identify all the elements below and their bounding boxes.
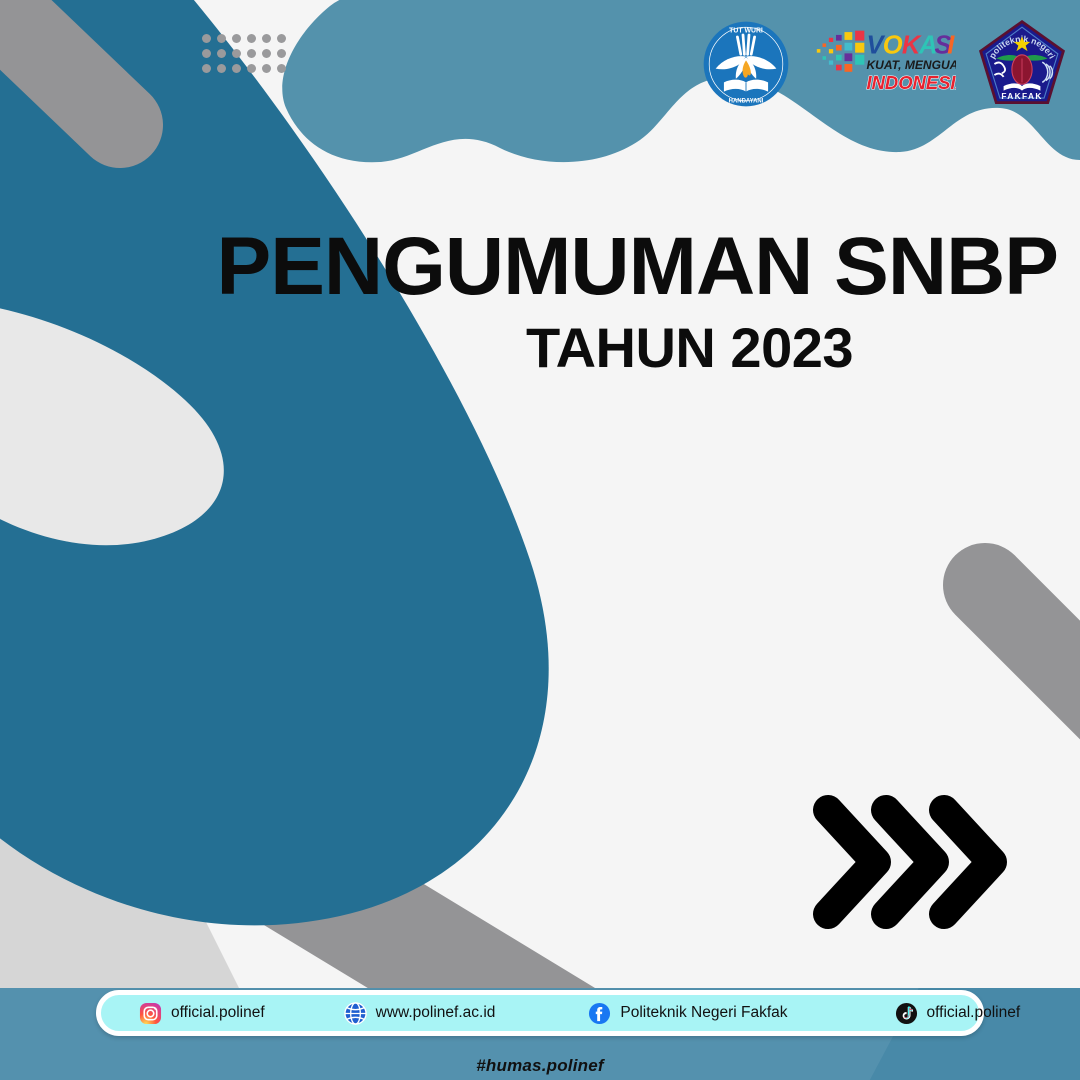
dot [247,49,256,58]
hashtag-text: #humas.polinef [0,1056,1080,1076]
svg-text:TUT WURI: TUT WURI [729,28,763,35]
chevron-right-icon [886,810,934,914]
dot [277,64,286,73]
dot [262,64,271,73]
dot [217,64,226,73]
dot [262,34,271,43]
vokasi-logo: V O K A S I KUAT, MENGUATKAN INDONESIA [814,25,954,103]
svg-text:INDONESIA: INDONESIA [866,72,955,93]
dot [262,49,271,58]
dot [217,49,226,58]
social-links-pill: official.polinef www.polinef.ac.id [96,990,984,1036]
facebook-icon [588,1002,611,1025]
dot [277,49,286,58]
tiktok-icon [895,1002,918,1025]
social-label: official.polinef [171,1005,265,1021]
dot [247,34,256,43]
politeknik-negeri-fakfak-logo: politeknik negeri FAKFAK [976,18,1066,110]
tut-wuri-handayani-logo: TUT WURI HANDAYANI [700,18,792,110]
dot [202,34,211,43]
svg-text:O: O [883,31,903,59]
chevron-right-icon [944,810,992,914]
dot [217,34,226,43]
social-link-website[interactable]: www.polinef.ac.id [344,1002,496,1025]
header-logo-row: TUT WURI HANDAYANI [700,16,1066,112]
social-link-tiktok[interactable]: official.polinef [895,1002,1021,1025]
chevron-right-icon [828,810,876,914]
svg-text:HANDAYANI: HANDAYANI [729,99,764,105]
page-subtitle: TAHUN 2023 [0,320,853,376]
globe-icon [344,1002,367,1025]
dot [232,34,241,43]
instagram-icon [139,1002,162,1025]
svg-text:FAKFAK: FAKFAK [1001,92,1042,101]
social-label: official.polinef [927,1005,1021,1021]
svg-text:KUAT, MENGUATKAN: KUAT, MENGUATKAN [866,58,955,72]
social-link-facebook[interactable]: Politeknik Negeri Fakfak [588,1002,787,1025]
dot [277,34,286,43]
dot [247,64,256,73]
dot [202,49,211,58]
headline-block: PENGUMUMAN SNBP TAHUN 2023 [0,226,1058,376]
page-title: PENGUMUMAN SNBP [0,226,1058,308]
social-label: www.polinef.ac.id [376,1005,496,1021]
dot-grid-decoration [202,34,289,76]
dot [232,49,241,58]
poster-canvas: TUT WURI HANDAYANI [0,0,1080,1080]
chevron-arrows-decoration [806,788,1026,936]
gray-diagonal-bar-right [985,585,1080,740]
dot [232,64,241,73]
social-label: Politeknik Negeri Fakfak [620,1005,787,1021]
social-link-instagram[interactable]: official.polinef [139,1002,265,1025]
svg-text:I: I [947,31,955,59]
dot [202,64,211,73]
